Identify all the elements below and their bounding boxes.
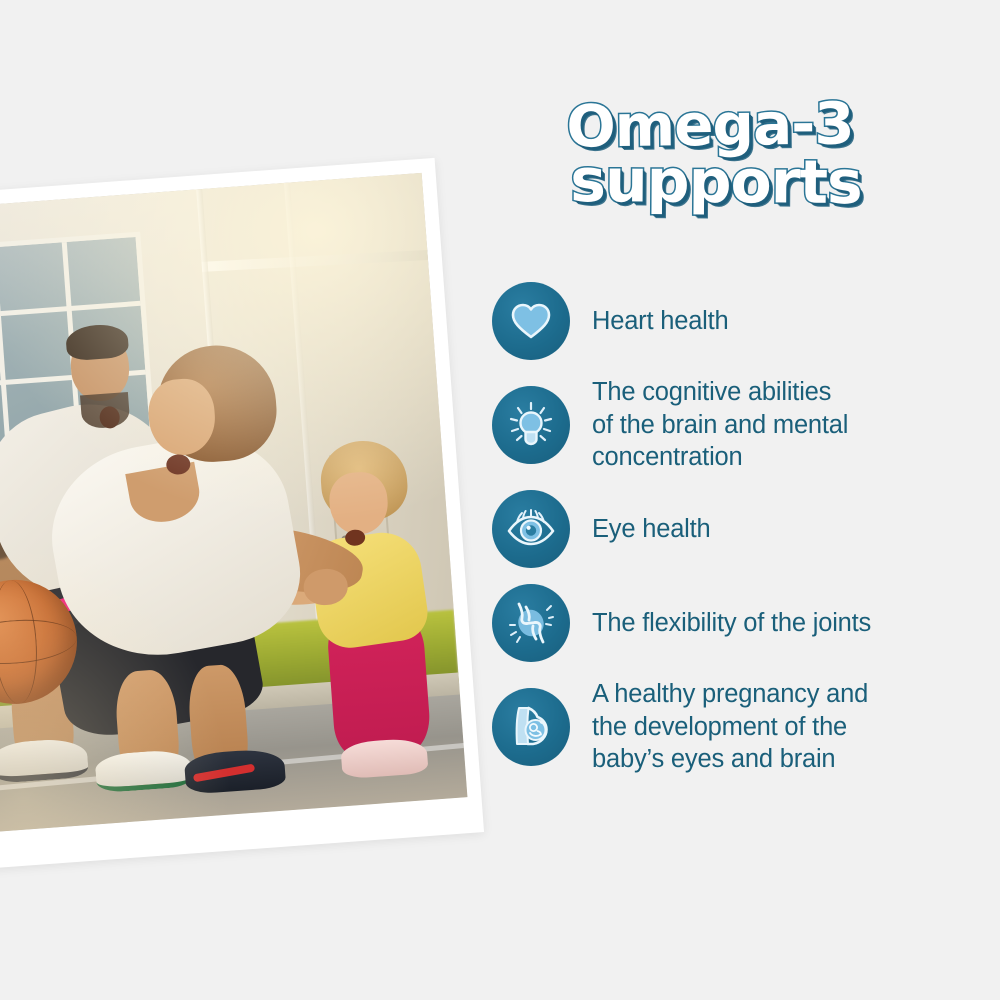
benefit-item-pregnancy: A healthy pregnancy and the development …	[492, 678, 992, 776]
benefit-item-heart: Heart health	[492, 282, 992, 360]
content-column: Omega-3 supports Heart health	[480, 0, 1000, 1000]
lightbulb-icon	[492, 386, 570, 464]
heart-icon	[492, 282, 570, 360]
benefit-item-cognition: The cognitive abilities of the brain and…	[492, 376, 992, 474]
family-photo-card	[0, 158, 484, 870]
page-title: Omega-3 supports	[480, 98, 940, 211]
benefit-label: The cognitive abilities of the brain and…	[592, 376, 848, 474]
pregnancy-icon	[492, 688, 570, 766]
photo-frame	[0, 158, 484, 870]
benefit-label: The flexibility of the joints	[592, 607, 871, 640]
window-mullion	[0, 301, 140, 322]
joint-icon	[492, 584, 570, 662]
benefit-item-joints: The flexibility of the joints	[492, 584, 992, 662]
title-line-2: supports	[486, 152, 946, 213]
eye-icon	[492, 490, 570, 568]
promo-graphic: Omega-3 supports Heart health	[0, 0, 1000, 1000]
benefit-label: Heart health	[592, 305, 729, 338]
benefit-item-eye: Eye health	[492, 490, 992, 568]
photo-image	[0, 173, 467, 833]
benefit-label: Eye health	[592, 513, 711, 546]
benefit-label: A healthy pregnancy and the development …	[592, 678, 868, 776]
benefits-list: Heart health	[492, 282, 992, 792]
